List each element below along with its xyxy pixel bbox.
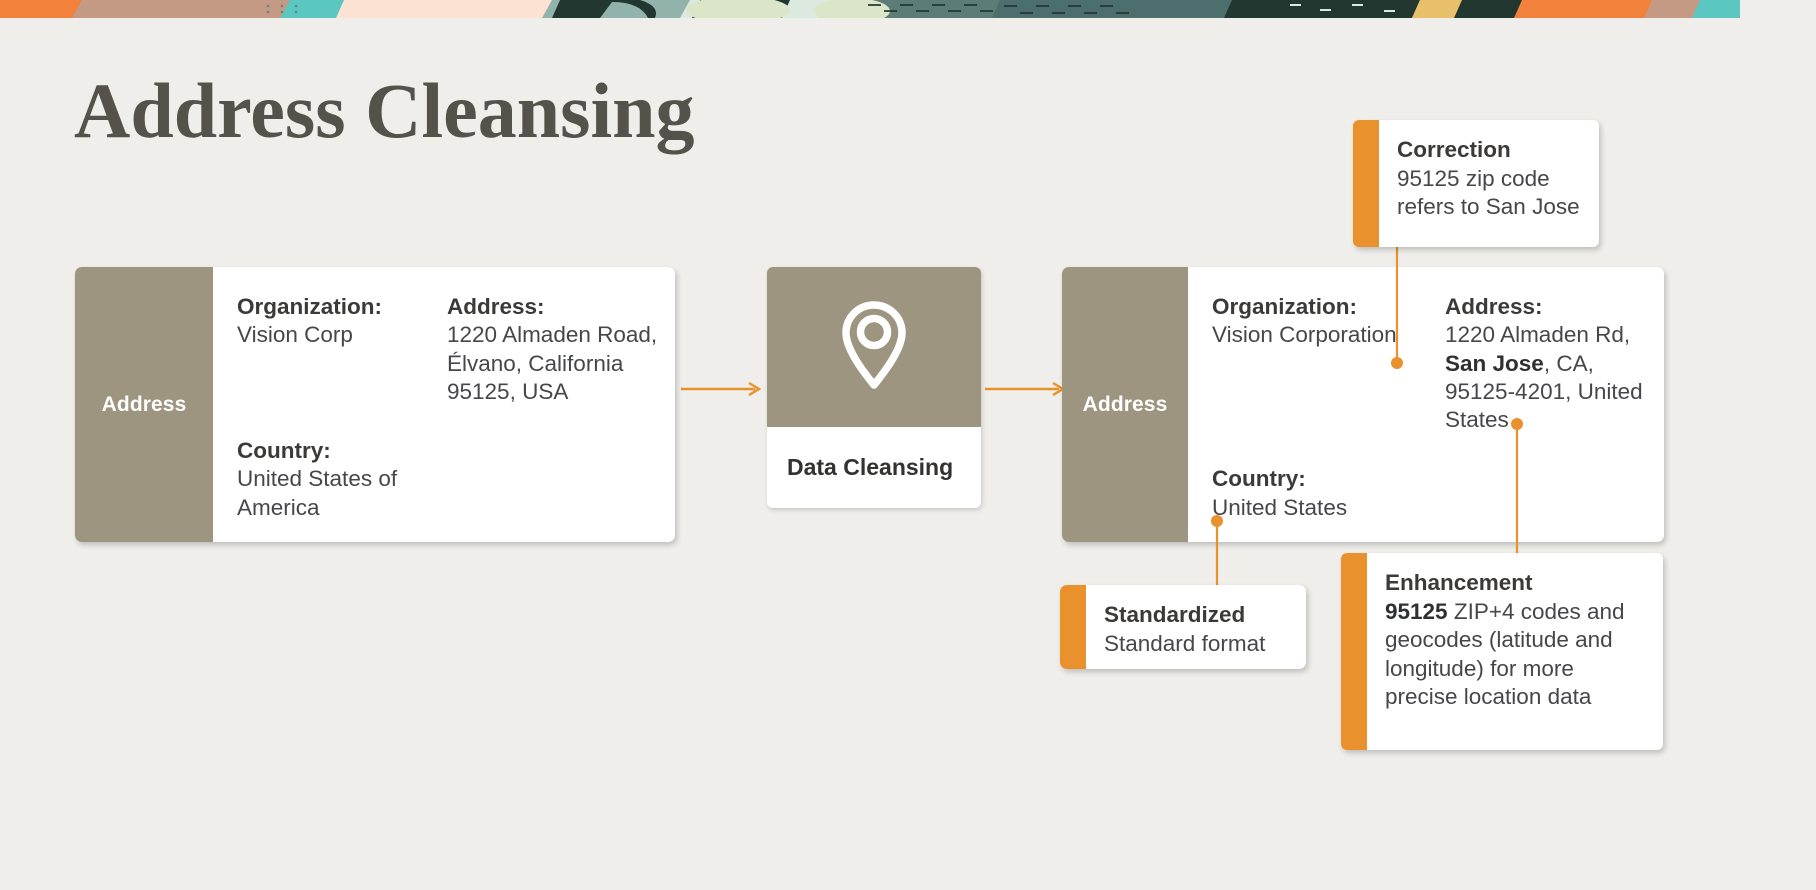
callout-enhancement-body: Enhancement 95125 ZIP+4 codes and geocod… — [1367, 553, 1663, 750]
cleansed-address-prefix: 1220 Almaden Rd, — [1445, 322, 1630, 347]
original-organization-field: Organization: Vision Corp — [237, 293, 447, 350]
cleansed-address-card: Address Organization: Vision Corporation… — [1062, 267, 1664, 542]
callout-standardized-text: Standard format — [1104, 630, 1290, 659]
processor-label: Data Cleansing — [787, 454, 953, 481]
callout-correction: Correction 95125 zip code refers to San … — [1353, 120, 1599, 247]
callout-standardized-body: Standardized Standard format — [1086, 585, 1306, 669]
original-card-body: Organization: Vision Corp Country: Unite… — [213, 267, 675, 542]
callout-correction-title: Correction — [1397, 136, 1583, 165]
cleansed-card-column-right: Address: 1220 Almaden Rd, San Jose, CA, … — [1445, 293, 1664, 522]
original-card-column-left: Organization: Vision Corp Country: Unite… — [237, 293, 447, 522]
cleansed-card-side-label: Address — [1083, 393, 1168, 417]
cleansed-address-field: Address: 1220 Almaden Rd, San Jose, CA, … — [1445, 293, 1664, 435]
cleansed-address-value: 1220 Almaden Rd, San Jose, CA, 95125-420… — [1445, 321, 1664, 434]
original-country-label: Country: — [237, 437, 447, 465]
original-address-card: Address Organization: Vision Corp Countr… — [75, 267, 675, 542]
arrow-original-to-processor — [681, 381, 763, 402]
callout-enhancement: Enhancement 95125 ZIP+4 codes and geocod… — [1341, 553, 1663, 750]
processor-icon-area — [767, 267, 981, 427]
callout-correction-accent-bar — [1353, 120, 1379, 247]
callout-correction-text: 95125 zip code refers to San Jose — [1397, 165, 1583, 222]
cleansed-organization-value: Vision Corporation — [1212, 321, 1445, 349]
callout-enhancement-zip: 95125 — [1385, 599, 1448, 624]
original-country-field: Country: United States of America — [237, 437, 447, 522]
slide-root: Address Cleansing Address Organization: … — [0, 0, 1816, 890]
original-address-label: Address: — [447, 293, 675, 321]
callout-standardized-title: Standardized — [1104, 601, 1290, 630]
spacer — [1212, 350, 1445, 466]
cleansed-country-label: Country: — [1212, 465, 1445, 493]
callout-standardized: Standardized Standard format — [1060, 585, 1306, 669]
cleansed-organization-label: Organization: — [1212, 293, 1445, 321]
cleansed-country-value: United States — [1212, 494, 1445, 522]
original-card-column-right: Address: 1220 Almaden Road, Élvano, Cali… — [447, 293, 675, 522]
callout-enhancement-accent-bar — [1341, 553, 1367, 750]
original-address-field: Address: 1220 Almaden Road, Élvano, Cali… — [447, 293, 675, 406]
callout-enhancement-text: 95125 ZIP+4 codes and geocodes (latitude… — [1385, 598, 1647, 712]
cleansed-card-column-left: Organization: Vision Corporation Country… — [1212, 293, 1445, 522]
callout-correction-body: Correction 95125 zip code refers to San … — [1379, 120, 1599, 247]
original-card-side-label: Address — [102, 393, 187, 417]
original-card-side-panel: Address — [75, 267, 213, 542]
original-organization-value: Vision Corp — [237, 321, 447, 349]
cleansed-address-label: Address: — [1445, 293, 1664, 321]
original-address-value: 1220 Almaden Road, Élvano, California 95… — [447, 321, 675, 406]
arrow-processor-to-cleansed — [985, 381, 1067, 402]
map-pin-icon — [839, 299, 909, 396]
cleansed-address-city: San Jose — [1445, 351, 1544, 376]
callout-enhancement-title: Enhancement — [1385, 569, 1647, 598]
cleansed-card-body: Organization: Vision Corporation Country… — [1188, 267, 1664, 542]
original-organization-label: Organization: — [237, 293, 447, 321]
cleansed-organization-field: Organization: Vision Corporation — [1212, 293, 1445, 350]
page-title: Address Cleansing — [74, 72, 695, 150]
cleansed-card-side-panel: Address — [1062, 267, 1188, 542]
callout-standardized-accent-bar — [1060, 585, 1086, 669]
data-cleansing-processor: Data Cleansing — [767, 267, 981, 508]
spacer — [237, 350, 447, 437]
processor-label-area: Data Cleansing — [767, 427, 981, 508]
original-country-value: United States of America — [237, 465, 447, 522]
decorative-pattern-banner — [0, 0, 1740, 18]
cleansed-country-field: Country: United States — [1212, 465, 1445, 522]
